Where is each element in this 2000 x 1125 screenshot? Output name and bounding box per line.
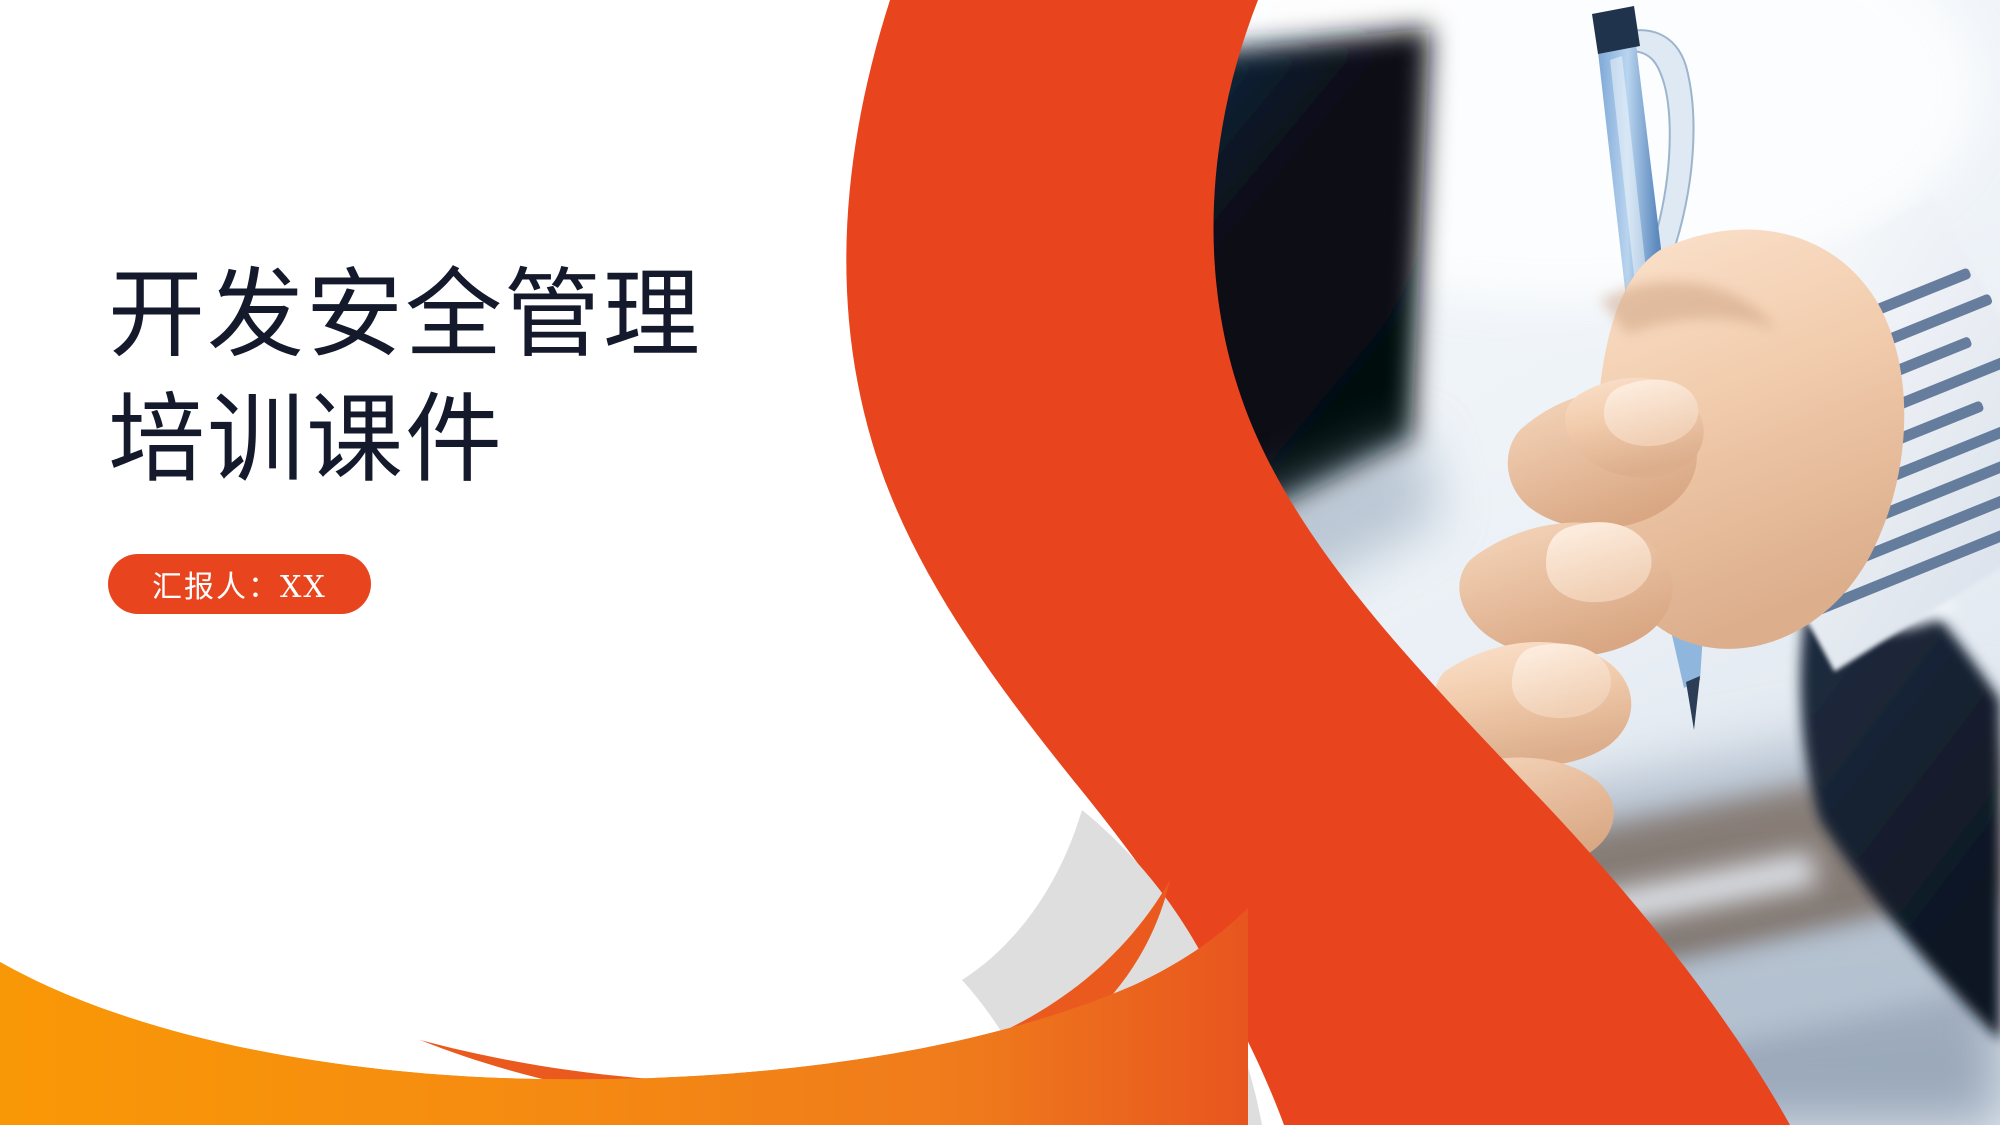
nail-middle (1546, 522, 1652, 602)
pen-button (1592, 6, 1640, 54)
presentation-slide: 开发安全管理 培训课件 汇报人：XX (0, 0, 2000, 1125)
presenter-badge[interactable]: 汇报人：XX (108, 554, 371, 614)
title-block: 开发安全管理 培训课件 汇报人：XX (108, 252, 868, 614)
page-title: 开发安全管理 培训课件 (108, 252, 868, 502)
nail-ring (1512, 644, 1611, 718)
